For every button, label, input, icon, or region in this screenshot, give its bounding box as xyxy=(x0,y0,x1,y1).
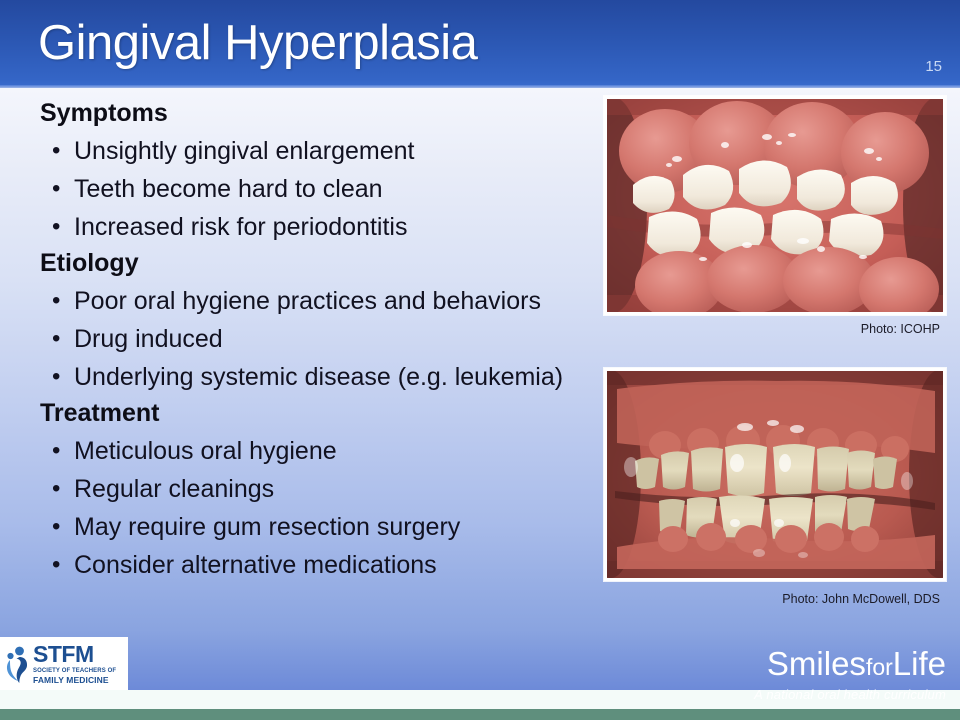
list-item-label: Unsightly gingival enlargement xyxy=(74,132,414,170)
page-title: Gingival Hyperplasia xyxy=(38,6,477,80)
list-item-label: Poor oral hygiene practices and behavior… xyxy=(74,282,541,320)
list-item: • Underlying systemic disease (e.g. leuk… xyxy=(52,358,597,396)
list-item-label: Teeth become hard to clean xyxy=(74,170,383,208)
list-item-label: Underlying systemic disease (e.g. leukem… xyxy=(74,358,563,396)
list-item: • Unsightly gingival enlargement xyxy=(52,132,597,170)
bullet-icon: • xyxy=(52,508,74,546)
smiles-for-life-logo[interactable]: SmilesforLife A national oral health cur… xyxy=(754,645,946,704)
inflamed-gingiva-photo xyxy=(604,368,946,581)
bullet-icon: • xyxy=(52,320,74,358)
outline-content: Symptoms • Unsightly gingival enlargemen… xyxy=(0,96,600,584)
inflamed-gingiva-illustration xyxy=(607,371,943,578)
sfl-word-for: for xyxy=(866,654,893,680)
gingival-overgrowth-photo xyxy=(604,96,946,315)
bullet-icon: • xyxy=(52,358,74,396)
section-heading-symptoms: Symptoms xyxy=(40,96,600,130)
stfm-figure-icon xyxy=(5,645,31,683)
stfm-logo[interactable]: STFM SOCIETY OF TEACHERS OF FAMILY MEDIC… xyxy=(0,637,128,690)
list-item-label: Regular cleanings xyxy=(74,470,274,508)
list-item-label: Meticulous oral hygiene xyxy=(74,432,337,470)
bullet-icon: • xyxy=(52,208,74,246)
list-item: • Poor oral hygiene practices and behavi… xyxy=(52,282,597,320)
list-item-label: Increased risk for periodontitis xyxy=(74,208,407,246)
list-item: • Drug induced xyxy=(52,320,597,358)
bullet-icon: • xyxy=(52,470,74,508)
photo-image xyxy=(607,99,943,312)
list-item: • Regular cleanings xyxy=(52,470,597,508)
bullet-icon: • xyxy=(52,546,74,584)
bullet-icon: • xyxy=(52,170,74,208)
list-item: • Consider alternative medications xyxy=(52,546,597,584)
photo-caption: Photo: John McDowell, DDS xyxy=(600,592,940,606)
section-heading-etiology: Etiology xyxy=(40,246,600,280)
bullet-icon: • xyxy=(52,432,74,470)
sfl-word-life: Life xyxy=(893,645,946,682)
list-item-label: May require gum resection surgery xyxy=(74,508,460,546)
list-item: • Increased risk for periodontitis xyxy=(52,208,597,246)
stfm-tagline-line2: FAMILY MEDICINE xyxy=(33,675,116,685)
slide: Gingival Hyperplasia 15 Symptoms • Unsig… xyxy=(0,0,960,720)
smiles-for-life-tagline: A national oral health curriculum xyxy=(754,686,946,704)
bullet-icon: • xyxy=(52,282,74,320)
stfm-tagline-line1: SOCIETY OF TEACHERS OF xyxy=(33,667,116,675)
list-item: • May require gum resection surgery xyxy=(52,508,597,546)
list-item-label: Drug induced xyxy=(74,320,223,358)
section-heading-treatment: Treatment xyxy=(40,396,600,430)
list-item: • Teeth become hard to clean xyxy=(52,170,597,208)
stfm-acronym: STFM xyxy=(33,641,94,667)
photo-caption: Photo: ICOHP xyxy=(640,322,940,336)
bullet-icon: • xyxy=(52,132,74,170)
sfl-word-smiles: Smiles xyxy=(767,645,866,682)
stfm-wordmark: STFM SOCIETY OF TEACHERS OF FAMILY MEDIC… xyxy=(33,643,116,685)
list-item: • Meticulous oral hygiene xyxy=(52,432,597,470)
footer-accent-band xyxy=(0,709,960,720)
photo-image xyxy=(607,371,943,578)
list-item-label: Consider alternative medications xyxy=(74,546,437,584)
gingival-overgrowth-illustration xyxy=(607,99,943,312)
slide-number: 15 xyxy=(925,58,942,75)
smiles-for-life-wordmark: SmilesforLife xyxy=(754,645,946,686)
